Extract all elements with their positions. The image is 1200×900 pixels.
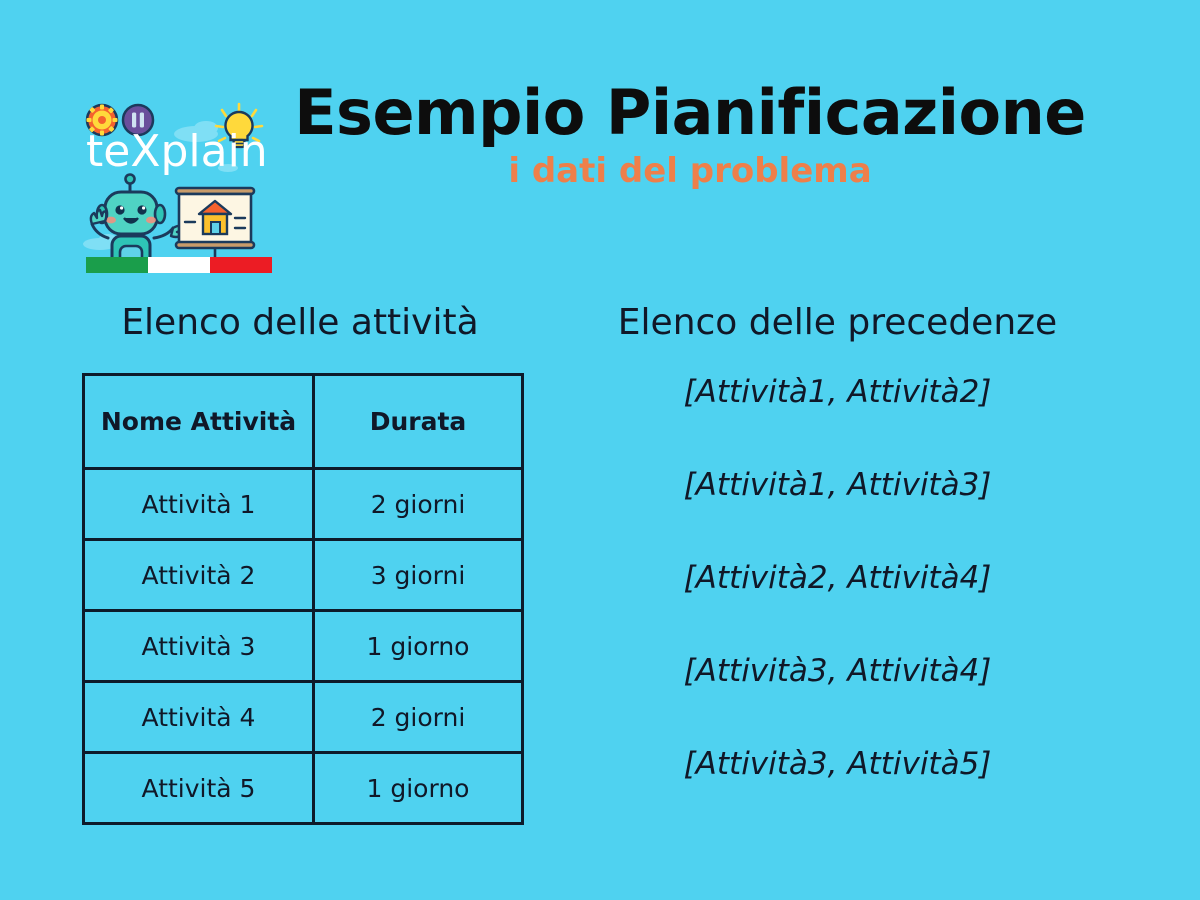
table-row: Attività 3 1 giorno — [84, 611, 523, 682]
italian-flag-bar — [86, 257, 272, 273]
activities-heading: Elenco delle attività — [100, 303, 500, 343]
robot-illustration — [91, 175, 184, 271]
column-header-duration: Durata — [314, 375, 523, 469]
table-row: Attività 4 2 giorni — [84, 682, 523, 753]
slide-canvas: teXplain — [0, 0, 1200, 900]
activities-table: Nome Attività Durata Attività 1 2 giorni… — [82, 373, 524, 825]
precedence-item: [Attività3, Attività4] — [600, 651, 1075, 744]
table-row: Attività 1 2 giorni — [84, 469, 523, 540]
cell-activity-duration: 2 giorni — [314, 682, 523, 753]
table-header-row: Nome Attività Durata — [84, 375, 523, 469]
cell-activity-name: Attività 1 — [84, 469, 314, 540]
table-row: Attività 5 1 giorno — [84, 753, 523, 824]
precedence-item: [Attività1, Attività2] — [600, 372, 1075, 465]
cell-activity-duration: 2 giorni — [314, 469, 523, 540]
precedences-heading: Elenco delle precedenze — [600, 303, 1075, 343]
logo-illustration: teXplain — [78, 96, 283, 274]
title-block: Esempio Pianificazione i dati del proble… — [290, 80, 1090, 190]
logo-wordmark: teXplain — [86, 126, 268, 177]
cell-activity-duration: 1 giorno — [314, 611, 523, 682]
cell-activity-duration: 1 giorno — [314, 753, 523, 824]
precedence-item: [Attività3, Attività5] — [600, 744, 1075, 837]
cell-activity-name: Attività 2 — [84, 540, 314, 611]
presentation-board-icon — [176, 188, 254, 267]
page-title: Esempio Pianificazione — [290, 80, 1090, 145]
table-row: Attività 2 3 giorni — [84, 540, 523, 611]
cell-activity-name: Attività 4 — [84, 682, 314, 753]
precedence-item: [Attività2, Attività4] — [600, 558, 1075, 651]
cell-activity-name: Attività 5 — [84, 753, 314, 824]
texplain-logo: teXplain — [78, 96, 283, 274]
cell-activity-duration: 3 giorni — [314, 540, 523, 611]
cell-activity-name: Attività 3 — [84, 611, 314, 682]
page-subtitle: i dati del problema — [290, 153, 1090, 190]
precedence-item: [Attività1, Attività3] — [600, 465, 1075, 558]
column-header-name: Nome Attività — [84, 375, 314, 469]
precedences-list: [Attività1, Attività2] [Attività1, Attiv… — [600, 372, 1075, 837]
